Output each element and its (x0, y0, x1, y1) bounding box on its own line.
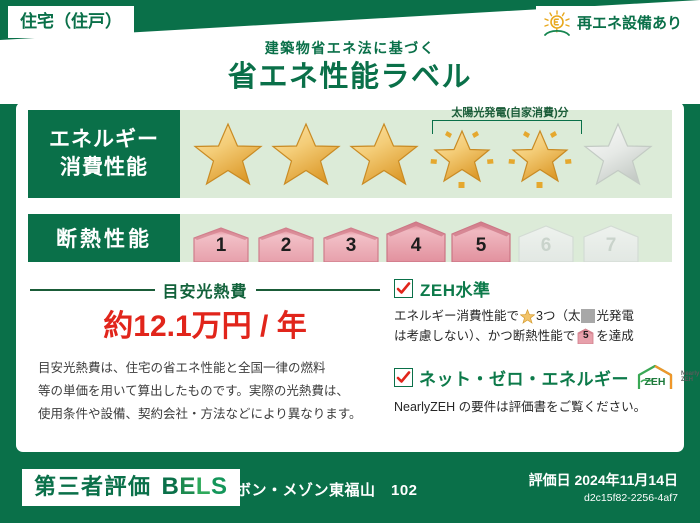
estimated-utility-cost-block: 目安光熱費 約12.1万円 / 年 目安光熱費は、住宅の省エネ性能と全国一律の燃… (30, 278, 380, 426)
net-zero-energy-section: ネット・ゼロ・エネルギー ZEH Nearly ZEH (394, 364, 672, 417)
check-icon (396, 281, 411, 296)
evaluation-info: 評価日 2024年11月14日 d2c15f82-2256-4af7 (529, 471, 678, 506)
cost-amount-value: 約12.1万円 / 年 (30, 310, 380, 343)
insulation-grade-3-number: 3 (320, 235, 382, 257)
insulation-grade-2: 2 (255, 226, 317, 262)
star-filled-sparkle-icon (425, 119, 499, 189)
insulation-grade-7: 7 (580, 224, 642, 262)
cost-disclaimer: 目安光熱費は、住宅の省エネ性能と全国一律の燃料 等の単価を用いて算出したものです… (30, 357, 380, 426)
zeh-standard-description-line-2: は考慮しない）、かつ断熱性能で 5 を達成 (394, 326, 672, 346)
insulation-grade-4-number: 4 (385, 235, 447, 257)
zeh-criteria-block: ZEH水準 エネルギー消費性能で 3つ（太 光発電 は考慮しない）、かつ断熱性能… (394, 276, 672, 417)
svg-text:ZEH: ZEH (645, 376, 666, 388)
bels-letter-s: S (211, 473, 228, 500)
bels-logo: BELS (162, 474, 228, 500)
bels-certification-mark: 第三者評価 BELS (22, 469, 240, 506)
cost-disclaimer-line-1: 目安光熱費は、住宅の省エネ性能と全国一律の燃料 (38, 357, 380, 380)
star-4-solar (424, 114, 500, 194)
zeh-standard-description: エネルギー消費性能で 3つ（太 光発電 は考慮しない）、かつ断熱性能で (394, 306, 672, 346)
energy-performance-row: エネルギー 消費性能 太陽光発電(自家消費)分 (28, 110, 672, 198)
label-title: 建築物省エネ法に基づく 省エネ性能ラベル (0, 40, 700, 95)
insulation-grade-scale: 1 2 3 (190, 214, 642, 262)
star-6-empty (580, 114, 656, 194)
cost-disclaimer-line-3: 使用条件や設備、契約会社・方法などにより異なります。 (38, 403, 380, 426)
energy-performance-label: 住宅（住戸） 再エネ設備あり 建築物省エネ法に基づく (0, 0, 700, 523)
title-subtitle: 建築物省エネ法に基づく (0, 40, 700, 57)
insulation-performance-label: 断熱性能 (28, 214, 180, 262)
footer-bar: 第三者評価 BELS ボン・メゾン東福山 102 評価日 2024年11月14日… (0, 455, 700, 523)
third-party-evaluation-label: 第三者評価 (34, 475, 152, 499)
insulation-grade-3: 3 (320, 226, 382, 262)
cost-disclaimer-line-2: 等の単価を用いて算出したものです。実際の光熱費は、 (38, 380, 380, 403)
insulation-grade-4: 4 (385, 220, 447, 262)
renewable-equipment-tag: 再エネ設備あり (536, 6, 692, 42)
energy-label-line1: エネルギー (49, 126, 159, 154)
cost-heading: 目安光熱費 (30, 278, 380, 302)
cost-rule-right (256, 289, 381, 291)
zeh-logo-caption-line-2: ZEH (681, 377, 699, 383)
insulation-grade-1: 1 (190, 226, 252, 262)
bels-letter-b: B (162, 473, 180, 500)
redacted-character (581, 309, 595, 323)
zeh-standard-title: ZEH水準 (420, 276, 491, 301)
insulation-grade-6: 6 (515, 224, 577, 262)
star-filled-icon (269, 119, 343, 189)
inline-house-badge-icon: 5 (577, 328, 594, 344)
building-name: ボン・メゾン東福山 102 (236, 479, 418, 500)
star-filled-icon (347, 119, 421, 189)
energy-performance-label: エネルギー 消費性能 (28, 110, 180, 198)
zeh-logo-caption: Nearly ZEH (681, 371, 699, 384)
net-zero-energy-description: NearlyZEH の要件は評価書をご覧ください。 (394, 397, 672, 417)
net-zero-energy-row: ネット・ゼロ・エネルギー ZEH Nearly ZEH (394, 364, 672, 390)
star-filled-icon (191, 119, 265, 189)
housing-type-tag: 住宅（住戸） (8, 6, 134, 38)
insulation-grade-5: 5 (450, 220, 512, 262)
net-zero-energy-checkbox (394, 368, 413, 387)
star-1 (190, 114, 266, 194)
insulation-grade-6-number: 6 (515, 235, 577, 257)
cost-heading-label: 目安光熱費 (163, 278, 248, 302)
check-icon (396, 370, 411, 385)
star-2 (268, 114, 344, 194)
star-rating (190, 110, 660, 198)
cost-rule-left (30, 289, 155, 291)
zeh-standard-row: ZEH水準 (394, 276, 672, 301)
star-3 (346, 114, 422, 194)
star-5-solar (502, 114, 578, 194)
insulation-grade-1-number: 1 (190, 235, 252, 257)
evaluation-date: 評価日 2024年11月14日 (529, 471, 678, 489)
zeh-standard-description-line-1: エネルギー消費性能で 3つ（太 光発電 (394, 306, 672, 326)
insulation-grades-panel: 1 2 3 (180, 214, 672, 262)
zeh-house-logo-icon: ZEH (635, 364, 675, 390)
solar-sun-icon (542, 10, 572, 38)
title-main: 省エネ性能ラベル (0, 59, 700, 95)
zeh-desc-text-d: は考慮しない）、かつ断熱性能で (394, 326, 575, 346)
energy-stars-panel: 太陽光発電(自家消費)分 (180, 110, 672, 198)
evaluation-id: d2c15f82-2256-4af7 (529, 491, 678, 506)
insulation-grade-5-number: 5 (450, 235, 512, 257)
inline-star-icon (520, 309, 535, 324)
bels-letter-l: L (196, 473, 211, 500)
star-empty-icon (581, 119, 655, 189)
zeh-desc-text-e: を達成 (596, 326, 634, 346)
net-zero-energy-title: ネット・ゼロ・エネルギー (419, 365, 629, 390)
zeh-desc-text-b: 3つ（太 (536, 306, 580, 326)
inline-grade-number: 5 (577, 328, 594, 344)
zeh-desc-text-c: 光発電 (596, 306, 634, 326)
net-zero-energy-description-text: NearlyZEH の要件は評価書をご覧ください。 (394, 397, 672, 417)
insulation-performance-row: 断熱性能 1 (28, 214, 672, 262)
insulation-grade-2-number: 2 (255, 235, 317, 257)
zeh-desc-text-a: エネルギー消費性能で (394, 306, 519, 326)
zeh-standard-checkbox (394, 279, 413, 298)
renewable-tag-label: 再エネ設備あり (577, 15, 682, 33)
bels-letter-e: E (179, 473, 196, 500)
energy-label-line2: 消費性能 (60, 154, 148, 182)
insulation-grade-7-number: 7 (580, 235, 642, 257)
star-filled-sparkle-icon (503, 119, 577, 189)
content-panel: エネルギー 消費性能 太陽光発電(自家消費)分 (16, 102, 684, 452)
